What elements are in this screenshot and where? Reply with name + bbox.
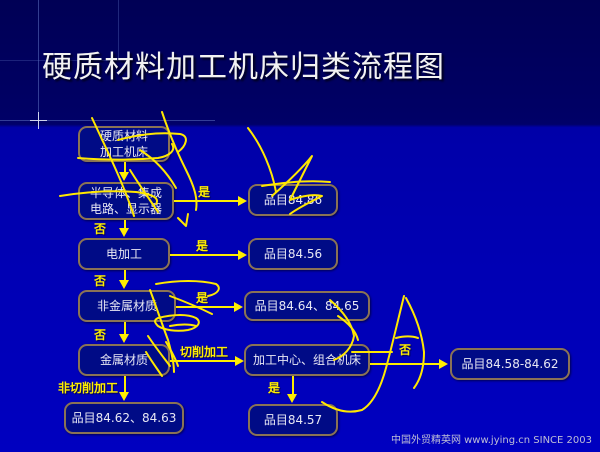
edge-label-no-machining: 否: [399, 341, 411, 358]
arrowhead-down-icon: [119, 334, 129, 343]
arrowhead-right-icon: [238, 196, 247, 206]
node-edm-label: 电加工: [106, 247, 142, 262]
node-heading-8457: 品目84.57: [248, 404, 338, 436]
arrowhead-right-icon: [234, 302, 243, 312]
node-heading-8486: 品目84.86: [248, 184, 338, 216]
edge-label-yes-edm: 是: [196, 237, 208, 254]
node-semiconductor: 半导体、集成电路、显示器: [78, 182, 174, 220]
node-start-label: 硬质材料加工机床: [100, 128, 148, 160]
node-heading-8486-label: 品目84.86: [264, 193, 322, 208]
edge-label-no-semiconductor: 否: [94, 220, 106, 237]
arrowhead-right-icon: [439, 359, 448, 369]
node-heading-8462-8463-label: 品目84.62、84.63: [72, 411, 177, 426]
node-nonmetal-label: 非金属材质: [97, 299, 157, 314]
arrow-machining-no: [370, 363, 440, 365]
slide-canvas: 硬质材料加工机床归类流程图 硬质材料加工机床 半导体、集成电路、显示器 电加工 …: [0, 0, 600, 452]
node-heading-8457-label: 品目84.57: [264, 413, 322, 428]
node-heading-8458-8462: 品目84.58-84.62: [450, 348, 570, 380]
arrowhead-right-icon: [238, 250, 247, 260]
node-machining-center: 加工中心、组合机床: [244, 344, 370, 376]
page-title: 硬质材料加工机床归类流程图: [42, 42, 445, 86]
node-heading-8462-8463: 品目84.62、84.63: [64, 402, 184, 434]
node-edm: 电加工: [78, 238, 170, 270]
node-start: 硬质材料加工机床: [78, 126, 170, 162]
edge-label-yes-nonmetal: 是: [196, 289, 208, 306]
edge-label-no-edm: 否: [94, 272, 106, 289]
arrow-edm-yes: [170, 254, 239, 256]
node-heading-8464-8465: 品目84.64、84.65: [244, 291, 370, 321]
arrow-metal-noncutting: [124, 376, 126, 393]
node-heading-8458-8462-label: 品目84.58-84.62: [461, 357, 558, 372]
arrowhead-down-icon: [119, 392, 129, 401]
node-heading-8456: 品目84.56: [248, 238, 338, 270]
arrowhead-down-icon: [119, 228, 129, 237]
edge-label-non-cutting: 非切削加工: [58, 379, 118, 396]
edge-label-cutting: 切削加工: [180, 343, 228, 360]
edge-label-yes-machining: 是: [268, 379, 280, 396]
node-metal-label: 金属材质: [100, 353, 148, 368]
arrowhead-down-icon: [287, 394, 297, 403]
arrow-metal-cutting: [170, 360, 236, 362]
arrowhead-down-icon: [119, 280, 129, 289]
arrow-machining-yes: [292, 376, 294, 395]
crosshair-icon: [30, 120, 47, 121]
node-machining-center-label: 加工中心、组合机床: [253, 353, 361, 368]
node-heading-8456-label: 品目84.56: [264, 247, 322, 262]
node-metal: 金属材质: [78, 344, 170, 376]
arrow-semiconductor-yes: [174, 200, 239, 202]
arrowhead-right-icon: [235, 356, 244, 366]
guide-line-vertical: [38, 0, 39, 125]
arrow-nonmetal-yes: [176, 306, 235, 308]
footer-watermark: 中国外贸精英网 www.jying.cn SINCE 2003: [391, 431, 592, 446]
node-semiconductor-label: 半导体、集成电路、显示器: [90, 185, 162, 217]
edge-label-no-nonmetal: 否: [94, 326, 106, 343]
arrowhead-down-icon: [119, 172, 129, 181]
node-heading-8464-8465-label: 品目84.64、84.65: [255, 299, 360, 314]
edge-label-yes-semiconductor: 是: [198, 183, 210, 200]
node-nonmetal: 非金属材质: [78, 290, 176, 322]
